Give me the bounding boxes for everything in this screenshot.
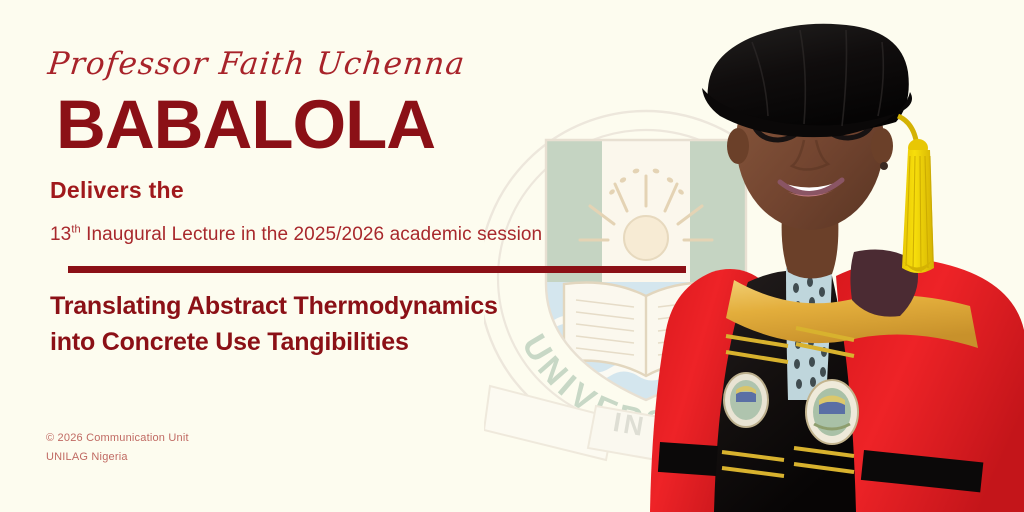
gown-crest-badge-left <box>724 373 768 427</box>
blouse-pattern <box>793 277 828 397</box>
lecture-title-line-2: into Concrete Use Tangibilities <box>50 324 610 360</box>
nose <box>792 140 828 170</box>
gown-crest-badge-right <box>806 380 858 444</box>
gold-sash <box>726 280 978 348</box>
earring <box>880 162 888 170</box>
eye-right <box>832 111 856 125</box>
lecture-number: 13 <box>50 224 71 245</box>
mouth <box>780 180 842 194</box>
banner-text-block: Professor Faith Uchenna BABALOLA Deliver… <box>0 0 700 512</box>
tam-creases <box>752 30 883 126</box>
lecture-title: Translating Abstract Thermodynamics into… <box>50 288 610 361</box>
delivers-label: Delivers the <box>50 177 184 204</box>
lecture-session-rest: Inaugural Lecture in the 2025/2026 acade… <box>81 224 543 245</box>
ear-left <box>727 128 749 164</box>
footer-line-2: UNILAG Nigeria <box>46 448 189 467</box>
inaugural-lecture-banner: UNIVERSITY IN DEED A <box>0 0 1024 512</box>
gown-front <box>714 270 856 512</box>
eyeglasses <box>736 92 890 140</box>
footer-line-1: © 2026 Communication Unit <box>46 429 189 448</box>
eyebrow-right <box>828 99 862 103</box>
lecture-session-line: 13th Inaugural Lecture in the 2025/2026 … <box>50 224 542 246</box>
doctoral-tam <box>708 24 909 133</box>
eye-left <box>766 113 790 127</box>
professor-surname: BABALOLA <box>56 90 435 159</box>
lecture-title-line-1: Translating Abstract Thermodynamics <box>50 288 610 324</box>
tam-brim <box>702 88 912 137</box>
professor-name-script: Professor Faith Uchenna <box>46 46 467 82</box>
cap-tassel <box>898 116 934 273</box>
fur-accent <box>850 250 918 317</box>
face <box>736 54 884 230</box>
blouse <box>786 264 832 400</box>
gold-braid <box>722 328 854 476</box>
teeth <box>780 180 842 193</box>
footer-credit: © 2026 Communication Unit UNILAG Nigeria <box>46 429 189 468</box>
lower-lip <box>788 190 834 197</box>
title-divider-rule <box>68 266 686 273</box>
red-hood <box>836 259 1024 512</box>
velvet-bands <box>658 442 983 492</box>
eyebrow-left <box>762 99 796 104</box>
lecture-number-suffix: th <box>71 224 80 236</box>
neck <box>782 210 839 279</box>
ear-right <box>871 128 893 164</box>
